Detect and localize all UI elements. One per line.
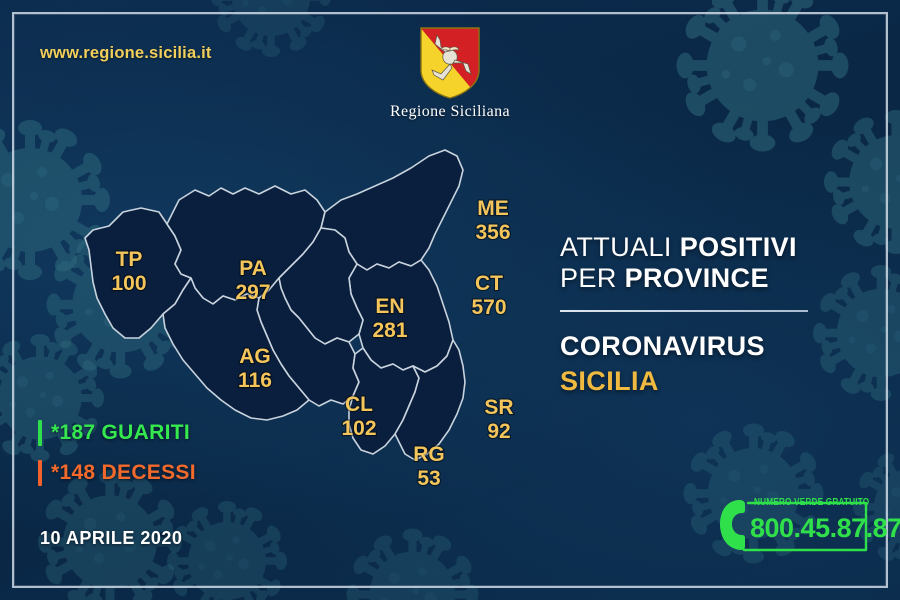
infographic-poster: www.regione.sicilia.it xyxy=(0,0,900,600)
headline-line-1: ATTUALI POSITIVI xyxy=(560,232,860,263)
province-label-EN-value: 281 xyxy=(372,319,407,342)
headline-divider xyxy=(560,310,808,312)
hotline-title: NUMERO VERDE GRATUITO xyxy=(754,496,869,507)
phone-handset-icon xyxy=(720,500,745,550)
province-label-PA-value: 297 xyxy=(235,281,270,304)
province-label-AG-value: 116 xyxy=(238,369,272,392)
crest-block: Regione Siciliana xyxy=(0,26,900,121)
province-shapes xyxy=(85,150,465,460)
province-label-TP-code: TP xyxy=(116,248,143,271)
province-label-PA-code: PA xyxy=(239,257,267,280)
province-label-ME-code: ME xyxy=(477,197,509,220)
crest-caption: Regione Siciliana xyxy=(0,103,900,121)
province-label-EN-code: EN xyxy=(375,295,404,318)
province-label-ME-value: 356 xyxy=(475,221,510,244)
legend-bar-decessi xyxy=(38,460,42,486)
province-label-CL-value: 102 xyxy=(341,417,376,440)
brand-coronavirus: CORONAVIRUS xyxy=(560,331,860,362)
headline-positivi: POSITIVI xyxy=(680,232,797,262)
province-label-TP-value: 100 xyxy=(111,272,146,295)
legend-item-decessi: *148 DECESSI xyxy=(38,460,196,486)
province-label-SR-code: SR xyxy=(484,396,513,419)
date-label: 10 APRILE 2020 xyxy=(40,528,182,549)
sicily-trinacria-coat-of-arms-icon xyxy=(419,26,481,100)
legend: *187 GUARITI *148 DECESSI xyxy=(38,420,196,500)
headline-line-2: PER PROVINCE xyxy=(560,263,860,294)
headline-block: ATTUALI POSITIVI PER PROVINCE CORONAVIRU… xyxy=(560,232,860,397)
province-label-RG-value: 53 xyxy=(417,467,440,490)
headline-province: PROVINCE xyxy=(625,263,769,293)
province-label-CL-code: CL xyxy=(345,393,373,416)
legend-label-guariti: *187 GUARITI xyxy=(51,421,190,445)
brand-sicilia: SICILIA xyxy=(560,366,860,397)
province-label-AG-code: AG xyxy=(239,345,271,368)
legend-label-decessi: *148 DECESSI xyxy=(51,461,196,485)
legend-item-guariti: *187 GUARITI xyxy=(38,420,196,446)
hotline-badge[interactable]: NUMERO VERDE GRATUITO 800.45.87.87 xyxy=(714,494,870,556)
headline-attuali: ATTUALI xyxy=(560,232,672,262)
province-label-RG-code: RG xyxy=(413,443,445,466)
province-label-CT-value: 570 xyxy=(471,296,506,319)
legend-bar-guariti xyxy=(38,420,42,446)
headline-per: PER xyxy=(560,263,617,293)
province-label-CT-code: CT xyxy=(475,272,503,295)
province-label-SR-value: 92 xyxy=(487,420,510,443)
hotline-number[interactable]: 800.45.87.87 xyxy=(750,513,900,544)
